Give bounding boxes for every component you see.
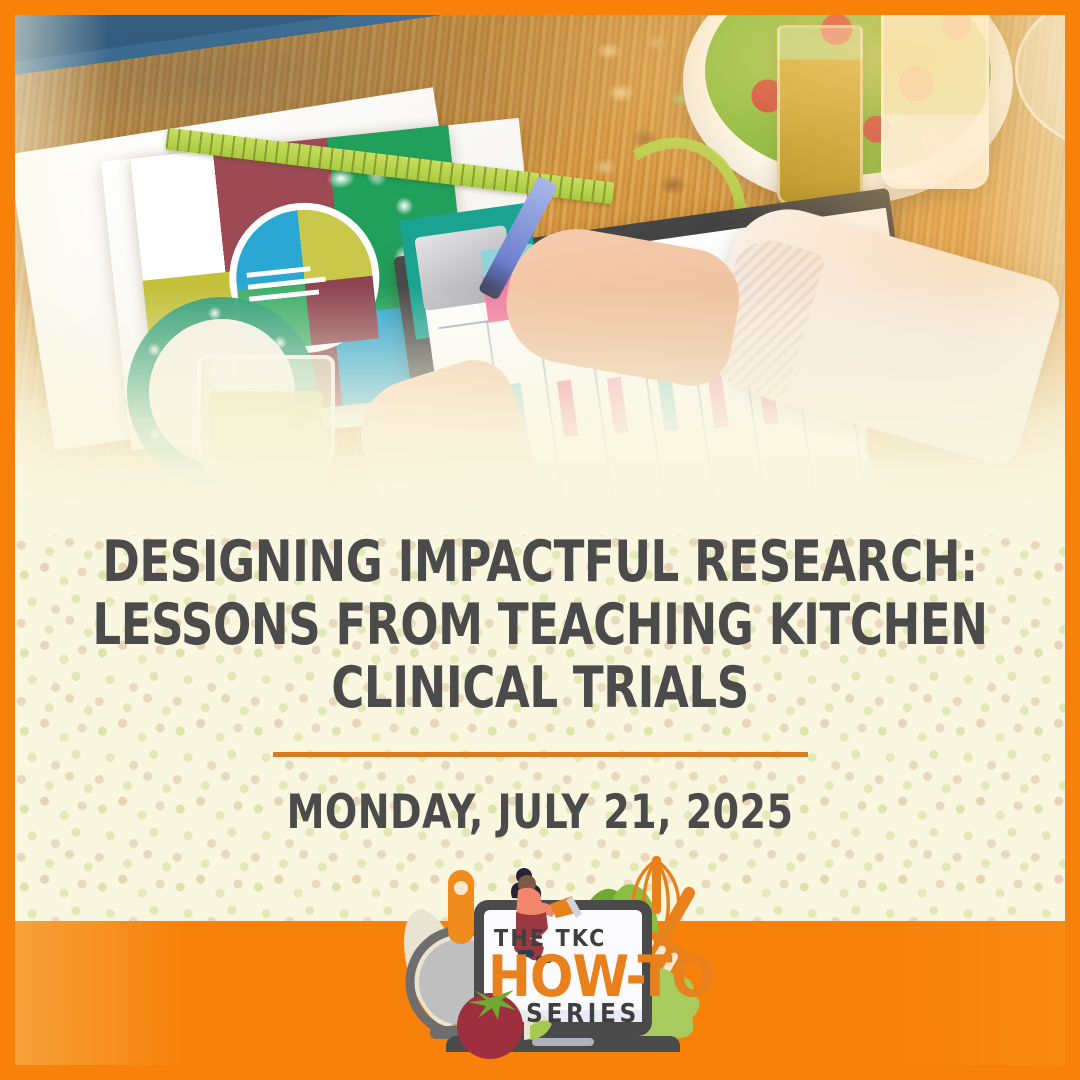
event-date: MONDAY, JULY 21, 2025 [68, 785, 1013, 840]
title-line-2: LESSONS FROM TEACHING KITCHEN [78, 594, 1002, 657]
page-title: DESIGNING IMPACTFUL RESEARCH: LESSONS FR… [78, 531, 1002, 720]
tkc-how-to-series-logo: THE TKC HOW-TO SERIES [390, 850, 720, 1065]
orange-divider-rule [273, 752, 808, 757]
poster-canvas: DESIGNING IMPACTFUL RESEARCH: LESSONS FR… [0, 0, 1080, 1080]
title-line-3: CLINICAL TRIALS [78, 657, 1002, 720]
photo-bottom-fade [15, 15, 1065, 535]
poster-inner: DESIGNING IMPACTFUL RESEARCH: LESSONS FR… [15, 15, 1065, 1065]
text-content-block: DESIGNING IMPACTFUL RESEARCH: LESSONS FR… [15, 531, 1065, 840]
logo-line-series: SERIES [526, 999, 640, 1029]
title-line-1: DESIGNING IMPACTFUL RESEARCH: [78, 531, 1002, 594]
